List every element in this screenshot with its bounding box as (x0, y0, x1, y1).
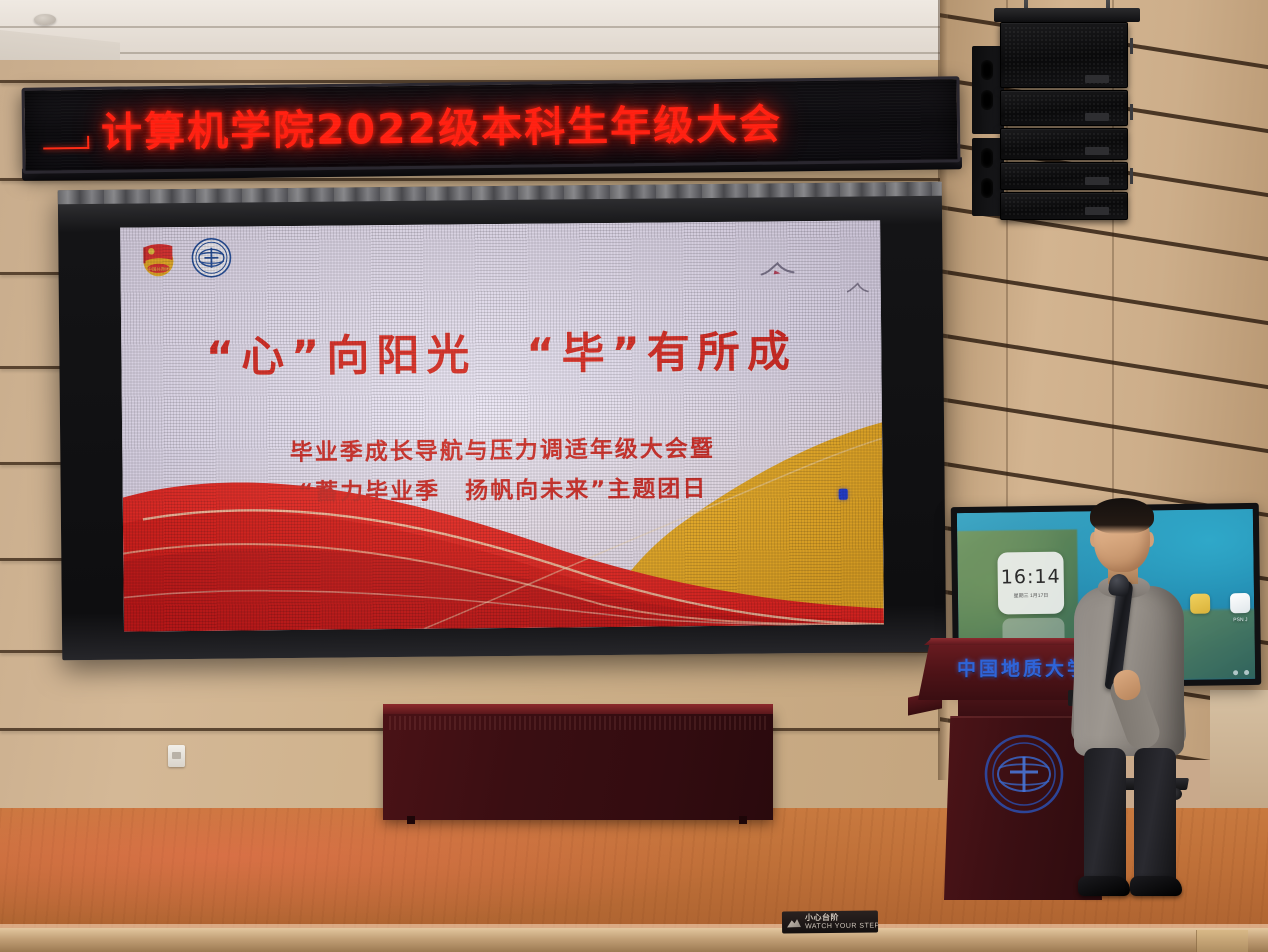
led-display-screen: 中国共青团 (58, 182, 946, 660)
presenter (1058, 498, 1204, 918)
led-banner: 计算机学院2022级本科生年级大会 (22, 76, 961, 173)
led-cursor-mark (43, 136, 89, 150)
stage-step (1196, 930, 1248, 952)
slide-logo-group: 中国共青团 (138, 237, 232, 280)
communist-youth-league-emblem: 中国共青团 (138, 237, 178, 279)
presentation-slide: 中国共青团 (120, 220, 884, 631)
bird-icon (847, 282, 869, 300)
slide-subtitle-line-1: 毕业季成长导航与压力调适年级大会暨 (122, 427, 882, 468)
ceiling-line-array-speaker-cluster (1000, 18, 1150, 228)
bird-icon (760, 261, 794, 284)
app-icon-folder[interactable] (1230, 593, 1250, 613)
led-banner-text: 计算机学院2022级本科生年级大会 (101, 90, 783, 158)
china-university-of-geosciences-logo (190, 237, 232, 279)
display-dock[interactable] (1233, 670, 1249, 675)
clock-widget[interactable]: 16:14 星期三 1月17日 (997, 552, 1064, 615)
caution-step-icon (787, 917, 801, 927)
plaque-line-2: WATCH YOUR STEP (805, 922, 878, 930)
floor-light-glow (0, 808, 760, 928)
stage-front-edge (0, 928, 1268, 952)
clock-time: 16:14 (998, 566, 1064, 589)
clock-date: 星期三 1月17日 (998, 592, 1064, 600)
slide-subtitle-line-2: “蓄力毕业季 扬帆向未来”主题团日 (122, 467, 882, 508)
smoke-detector-icon (34, 14, 56, 25)
wall-power-outlet[interactable] (168, 745, 185, 767)
slide-title: “心”向阳光 “毕”有所成 (121, 316, 882, 385)
caution-step-plaque: 小心台阶 WATCH YOUR STEP (782, 910, 878, 933)
blue-dot-artifact (839, 489, 848, 500)
maroon-stage-cabinet (383, 710, 773, 820)
university-seal-logo (982, 730, 1066, 818)
app-icon-folder-label: PSN J (1221, 617, 1259, 624)
auditorium-scene: 计算机学院2022级本科生年级大会 (0, 0, 1268, 952)
